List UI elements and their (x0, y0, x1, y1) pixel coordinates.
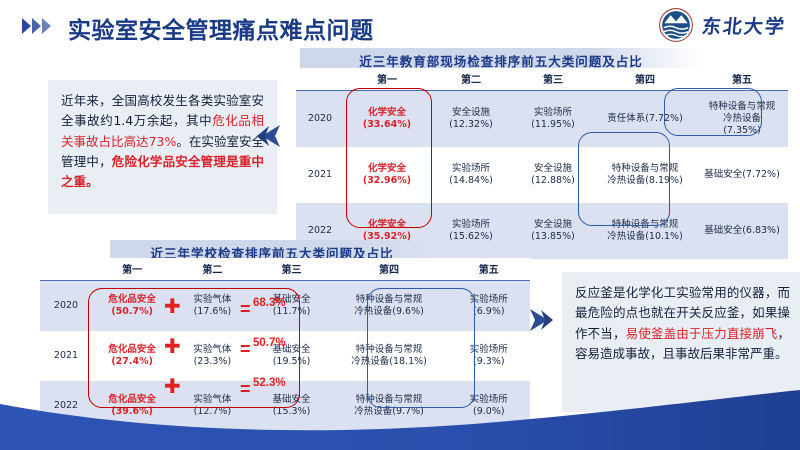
col-year (40, 258, 92, 281)
cell-rank3: 实验场所 (11.95%) (512, 91, 594, 148)
col-rank-1: 第一 (344, 68, 430, 91)
cell-label: 化学安全 (346, 163, 428, 175)
cell-year: 2021 (40, 331, 92, 381)
cell-pct: (9.3%) (450, 356, 528, 368)
arrow-left-icon (256, 124, 282, 153)
cell-label-2: 冷热设备 (698, 113, 786, 125)
title-chevrons (22, 18, 51, 34)
cell-pct: (50.7%) (94, 306, 170, 318)
col-rank-3: 第三 (252, 258, 330, 281)
sum-value-2020: 68.3% (253, 298, 286, 310)
table-header-row: 第一 第二 第三 第四 第五 (296, 68, 788, 91)
chevron-right-icon (32, 18, 41, 34)
cell-rank4: 责任体系(7.72%) (594, 91, 696, 148)
col-rank-3: 第三 (512, 68, 594, 91)
cell-rank5: 特种设备与常规 冷热设备 (7.35%) (696, 91, 788, 148)
table-row: 2020 化学安全 (33.64%) 安全设施 (12.32%) 实验场所 (1… (296, 91, 788, 148)
equals-icon: = (240, 300, 250, 318)
cell-rank2: 实验场所 (15.62%) (430, 203, 512, 259)
plus-icon: ✚ (164, 337, 181, 357)
equals-icon: = (240, 340, 250, 358)
equals-icon: = (240, 380, 250, 398)
table-header-row: 第一 第二 第三 第四 第五 (40, 258, 530, 281)
cell-rank5: 基础安全(7.72%) (696, 147, 788, 203)
cell-pct: (27.4%) (94, 356, 170, 368)
cell-label: 实验场所 (432, 163, 510, 175)
cell-label: 特种设备与常规 (698, 101, 786, 113)
chevron-right-icon (42, 18, 51, 34)
cell-pct: (15.62%) (432, 231, 510, 243)
cell-rank2: 安全设施 (12.32%) (430, 91, 512, 148)
callout-left: 近年来，全国高校发生各类实验室安全事故约1.4万余起，其中危化品相关事故占比高达… (48, 80, 277, 214)
page-title: 实验室安全管理痛点难点问题 (68, 11, 374, 45)
cell-pct: (11.95%) (514, 119, 592, 131)
col-rank-5: 第五 (696, 68, 788, 91)
cell-year: 2020 (296, 91, 344, 148)
cell-pct: (12.32%) (432, 119, 510, 131)
cell-label: 安全设施 (514, 219, 592, 231)
callout-right-part2: 易使釜盖由于压力直接崩飞 (626, 326, 778, 341)
cell-label: 安全设施 (432, 107, 510, 119)
col-rank-2: 第二 (430, 68, 512, 91)
cell-year: 2021 (296, 147, 344, 203)
cell-pct: 冷热设备(18.1%) (333, 356, 446, 368)
arrow-right-icon (528, 308, 554, 337)
cell-rank5: 实验场所 (6.9%) (448, 281, 530, 332)
cell-rank4: 特种设备与常规 冷热设备(10.1%) (594, 203, 696, 259)
cell-pct: (19.5%) (254, 356, 328, 368)
cell-pct: (14.84%) (432, 175, 510, 187)
sum-value-2022: 52.3% (253, 378, 286, 390)
cell-label: 实验场所 (450, 344, 528, 356)
cell-pct: (6.9%) (450, 306, 528, 318)
cell-rank1: 化学安全 (32.96%) (344, 147, 430, 203)
footer-wave-decoration (0, 390, 800, 450)
cell-pct: 冷热设备(9.6%) (333, 306, 446, 318)
brand-name: 东北大学 (701, 12, 788, 39)
cell-label: 特种设备与常规 (596, 219, 694, 231)
cell-label: 实验场所 (514, 107, 592, 119)
cell-pct: 冷热设备(10.1%) (596, 231, 694, 243)
plus-icon: ✚ (164, 297, 181, 317)
cell-pct: (13.85%) (514, 231, 592, 243)
cell-year: 2020 (40, 281, 92, 332)
cell-rank2: 实验场所 (14.84%) (430, 147, 512, 203)
sum-value-2021: 50.7% (253, 338, 286, 350)
cell-rank4: 特种设备与常规 冷热设备(18.1%) (331, 331, 448, 381)
cell-label: 化学安全 (346, 107, 428, 119)
cell-rank1: 化学安全 (33.64%) (344, 91, 430, 148)
cell-label: 基础安全(6.83%) (698, 225, 786, 237)
col-rank-5: 第五 (448, 258, 530, 281)
cell-label: 特种设备与常规 (333, 294, 446, 306)
cell-rank4: 特种设备与常规 冷热设备(9.6%) (331, 281, 448, 332)
cell-label: 化学安全 (346, 219, 428, 231)
cell-label: 实验场所 (432, 219, 510, 231)
cell-pct: 冷热设备(8.19%) (596, 175, 694, 187)
col-rank-4: 第四 (331, 258, 448, 281)
cell-label: 安全设施 (514, 163, 592, 175)
col-rank-1: 第一 (92, 258, 172, 281)
cell-rank1: 危化品安全 (50.7%) (92, 281, 172, 332)
cell-label: 基础安全(7.72%) (698, 169, 786, 181)
cell-rank5: 基础安全(6.83%) (696, 203, 788, 259)
table-row: 2021 化学安全 (32.96%) 实验场所 (14.84%) 安全设施 (1… (296, 147, 788, 203)
moe-inspection-table: 第一 第二 第三 第四 第五 2020 化学安全 (33.64%) 安全设施 (296, 68, 788, 259)
cell-rank5: 实验场所 (9.3%) (448, 331, 530, 381)
cell-rank1: 危化品安全 (27.4%) (92, 331, 172, 381)
cell-rank3: 安全设施 (12.88%) (512, 147, 594, 203)
slide-header: 实验室安全管理痛点难点问题 东北大学 (0, 0, 800, 52)
col-rank-2: 第二 (172, 258, 252, 281)
university-emblem-icon (658, 7, 694, 43)
cell-rank3: 安全设施 (13.85%) (512, 203, 594, 259)
cell-pct: (33.64%) (346, 119, 428, 131)
cell-label: 责任体系(7.72%) (596, 113, 694, 125)
cell-pct: (7.35%) (698, 125, 786, 137)
slide-canvas: 实验室安全管理痛点难点问题 东北大学 近三年教育部现场检查排序前五大类问题及占比 (0, 0, 800, 450)
chevron-right-icon (22, 18, 31, 34)
cell-pct: (12.88%) (514, 175, 592, 187)
plus-icon: ✚ (164, 377, 181, 397)
cell-rank4: 特种设备与常规 冷热设备(8.19%) (594, 147, 696, 203)
brand-block: 东北大学 (658, 7, 786, 43)
cell-label: 危化品安全 (94, 344, 170, 356)
cell-label: 特种设备与常规 (596, 163, 694, 175)
cell-pct: (32.96%) (346, 175, 428, 187)
col-year (296, 68, 344, 91)
cell-label: 危化品安全 (94, 294, 170, 306)
cell-label: 实验场所 (450, 294, 528, 306)
cell-label: 特种设备与常规 (333, 344, 446, 356)
col-rank-4: 第四 (594, 68, 696, 91)
